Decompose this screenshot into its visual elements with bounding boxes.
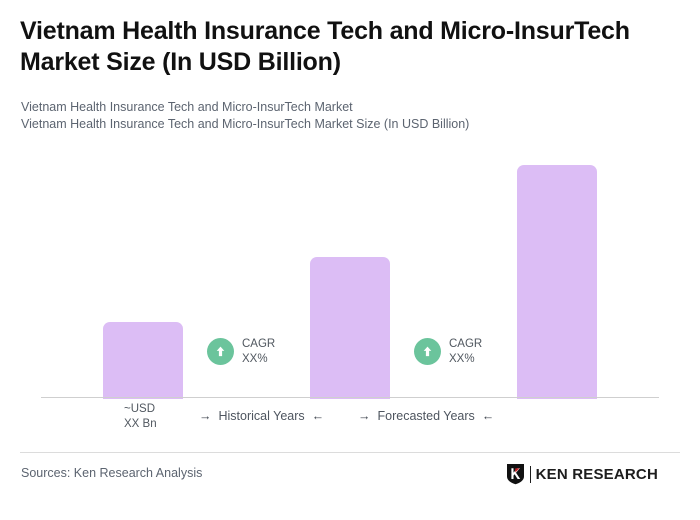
arrow-left-icon: ← (312, 409, 325, 423)
year-range-forecasted-label: Forecasted Years (378, 409, 475, 423)
cagr-badge-2-text: CAGR XX% (449, 337, 482, 366)
year-range-historical: → Historical Years ← (199, 409, 324, 423)
arrow-left-icon: ← (482, 409, 495, 423)
source-text: Sources: Ken Research Analysis (21, 466, 202, 480)
arrow-up-icon (414, 338, 441, 365)
chart-year-range-labels: → Historical Years ← → Forecasted Years … (41, 409, 659, 431)
arrow-right-icon: → (199, 409, 212, 423)
cagr-badge-2[interactable]: CAGR XX% (414, 337, 482, 366)
bar-2[interactable] (310, 257, 390, 399)
ken-research-logo: KEN RESEARCH (506, 463, 658, 485)
bar-chart-plot-area: ~USD XX Bn ~USD 1.5 Bn ~USD XX Bn CAGR X… (0, 120, 700, 400)
year-range-forecasted: → Forecasted Years ← (358, 409, 494, 423)
bar-1[interactable] (103, 322, 183, 399)
cagr-badge-1-line-1: CAGR (242, 337, 275, 352)
chart-baseline (41, 397, 659, 398)
chart-title: Vietnam Health Insurance Tech and Micro-… (20, 16, 680, 78)
bar-3[interactable] (517, 165, 597, 399)
cagr-badge-2-line-2: XX% (449, 352, 482, 367)
cagr-badge-1-line-2: XX% (242, 352, 275, 367)
chart-subtitle-line-1: Vietnam Health Insurance Tech and Micro-… (21, 99, 661, 116)
arrow-right-icon: → (358, 409, 371, 423)
year-range-historical-label: Historical Years (219, 409, 305, 423)
logo-separator (530, 466, 531, 483)
cagr-badge-1[interactable]: CAGR XX% (207, 337, 275, 366)
ken-research-wordmark: KEN RESEARCH (536, 466, 658, 483)
ken-research-shield-icon (506, 463, 525, 485)
footer-divider (20, 452, 680, 453)
arrow-up-icon (207, 338, 234, 365)
cagr-badge-1-text: CAGR XX% (242, 337, 275, 366)
cagr-badge-2-line-1: CAGR (449, 337, 482, 352)
